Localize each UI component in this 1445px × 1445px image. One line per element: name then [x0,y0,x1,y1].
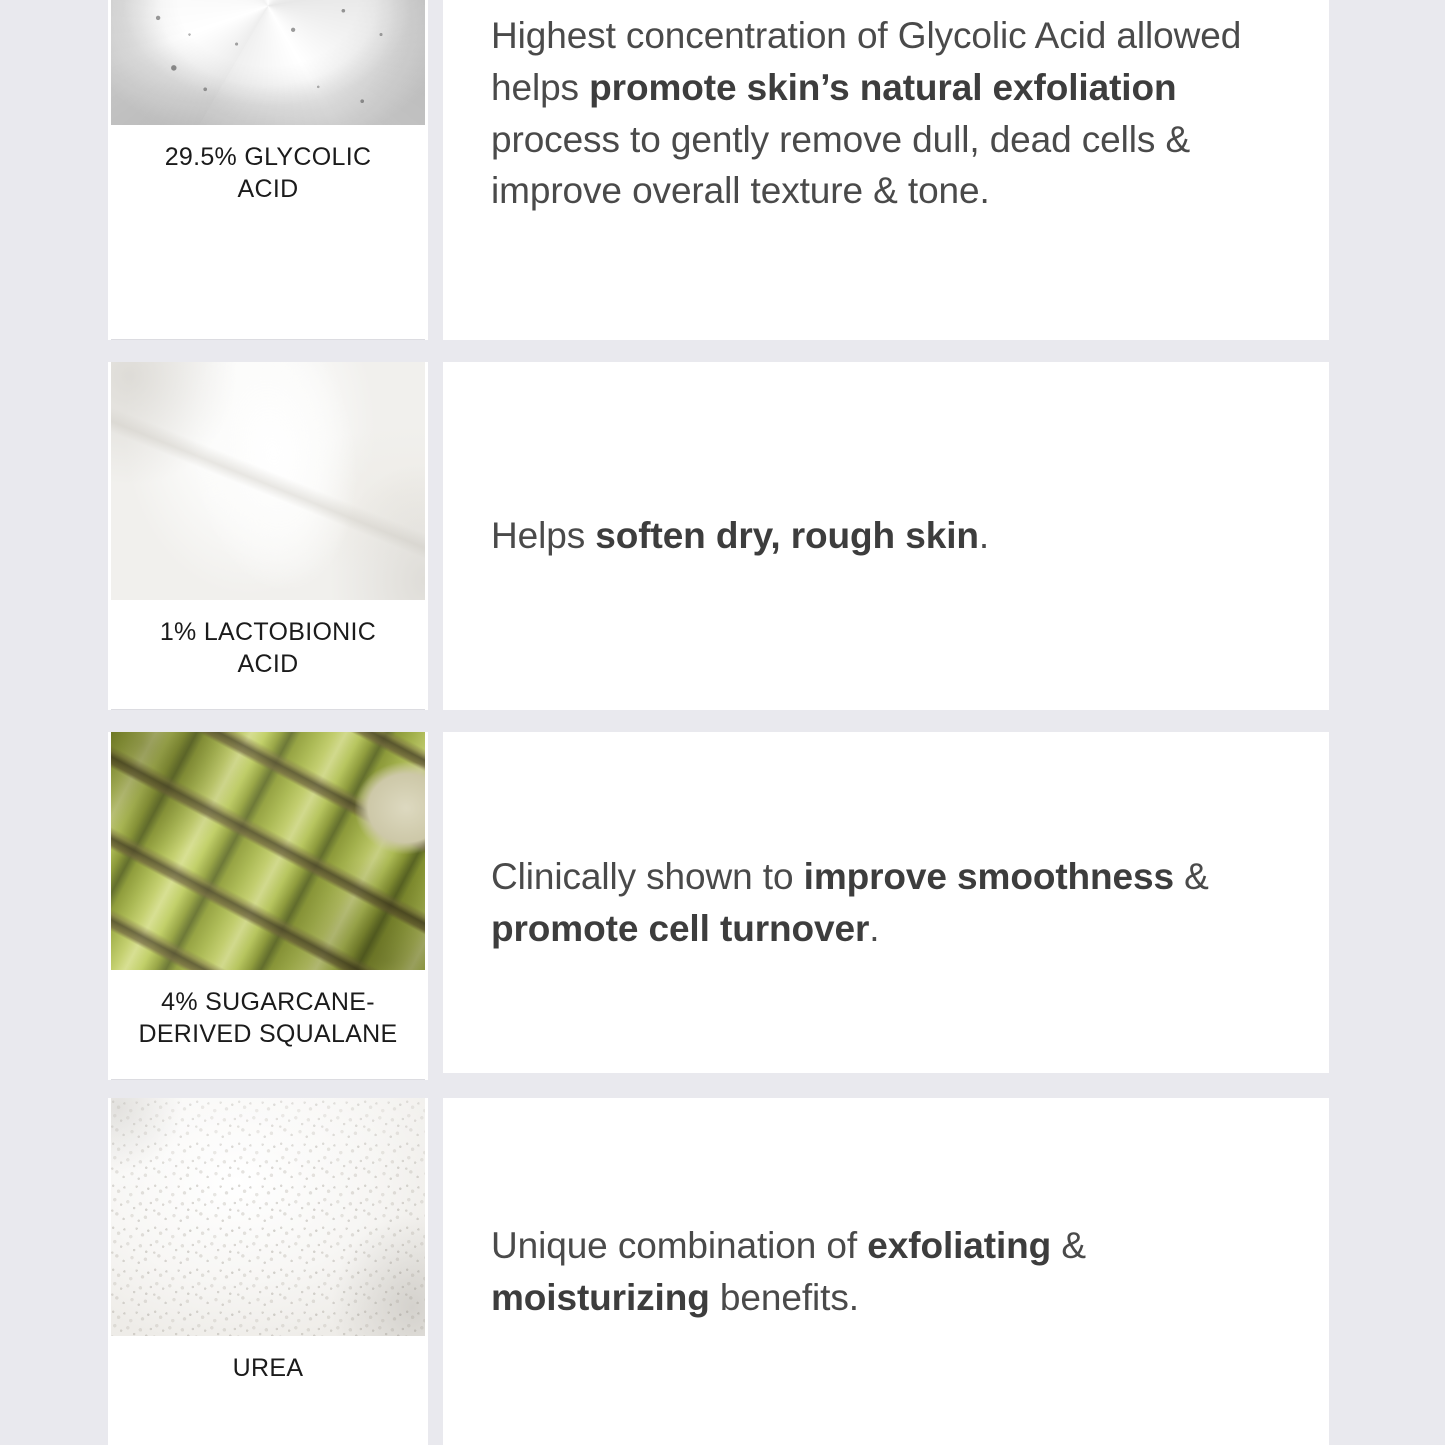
benefit-plain: Unique combination of [491,1225,867,1266]
ingredient-label-sugarcane-squalane: 4% SUGARCANE- DERIVED SQUALANE [108,970,428,1050]
ingredient-benefits-grid: 29.5% GLYCOLIC ACID Highest concentratio… [0,0,1445,1445]
benefit-text-lactobionic-acid: Helps soften dry, rough skin. [443,510,1029,562]
benefit-emphasis: exfoliating [867,1225,1051,1266]
ingredient-card-urea[interactable]: UREA [108,1098,428,1445]
ingredient-card-glycolic-acid[interactable]: 29.5% GLYCOLIC ACID [108,0,428,340]
ingredient-label-lactobionic-acid: 1% LACTOBIONIC ACID [108,600,428,680]
glycolic-acid-gel-photo [111,0,425,125]
ingredient-label-glycolic-acid: 29.5% GLYCOLIC ACID [108,125,428,205]
benefit-text-urea: Unique combination of exfoliating & mois… [443,1220,1329,1324]
benefit-plain: . [979,515,989,556]
benefit-plain: & [1174,856,1209,897]
benefit-emphasis: moisturizing [491,1277,710,1318]
benefit-plain: benefits. [710,1277,859,1318]
benefit-text-glycolic-acid: Highest concentration of Glycolic Acid a… [443,10,1329,217]
card-divider [111,1079,425,1080]
benefit-card-glycolic-acid[interactable]: Highest concentration of Glycolic Acid a… [443,0,1329,340]
benefit-emphasis: promote cell turnover [491,908,869,949]
benefit-plain: Clinically shown to [491,856,804,897]
benefit-text-sugarcane-squalane: Clinically shown to improve smoothness &… [443,851,1329,955]
benefit-emphasis: improve smoothness [804,856,1174,897]
white-powder-photo [111,1098,425,1336]
ingredient-card-sugarcane-squalane[interactable]: 4% SUGARCANE- DERIVED SQUALANE [108,732,428,1080]
benefit-card-sugarcane-squalane[interactable]: Clinically shown to improve smoothness &… [443,732,1329,1073]
ingredient-card-lactobionic-acid[interactable]: 1% LACTOBIONIC ACID [108,362,428,710]
benefit-emphasis: promote skin’s natural exfoliation [589,67,1176,108]
card-divider [111,709,425,710]
card-divider [111,339,425,340]
benefit-plain: Helps [491,515,595,556]
benefit-card-lactobionic-acid[interactable]: Helps soften dry, rough skin. [443,362,1329,710]
sugarcane-stalks-photo [111,732,425,970]
cream-swirl-photo [111,362,425,600]
benefit-plain: & [1051,1225,1086,1266]
benefit-card-urea[interactable]: Unique combination of exfoliating & mois… [443,1098,1329,1445]
benefit-emphasis: soften dry, rough skin [595,515,979,556]
benefit-plain: process to gently remove dull, dead cell… [491,119,1190,212]
benefit-plain: . [869,908,879,949]
ingredient-label-urea: UREA [108,1336,428,1384]
